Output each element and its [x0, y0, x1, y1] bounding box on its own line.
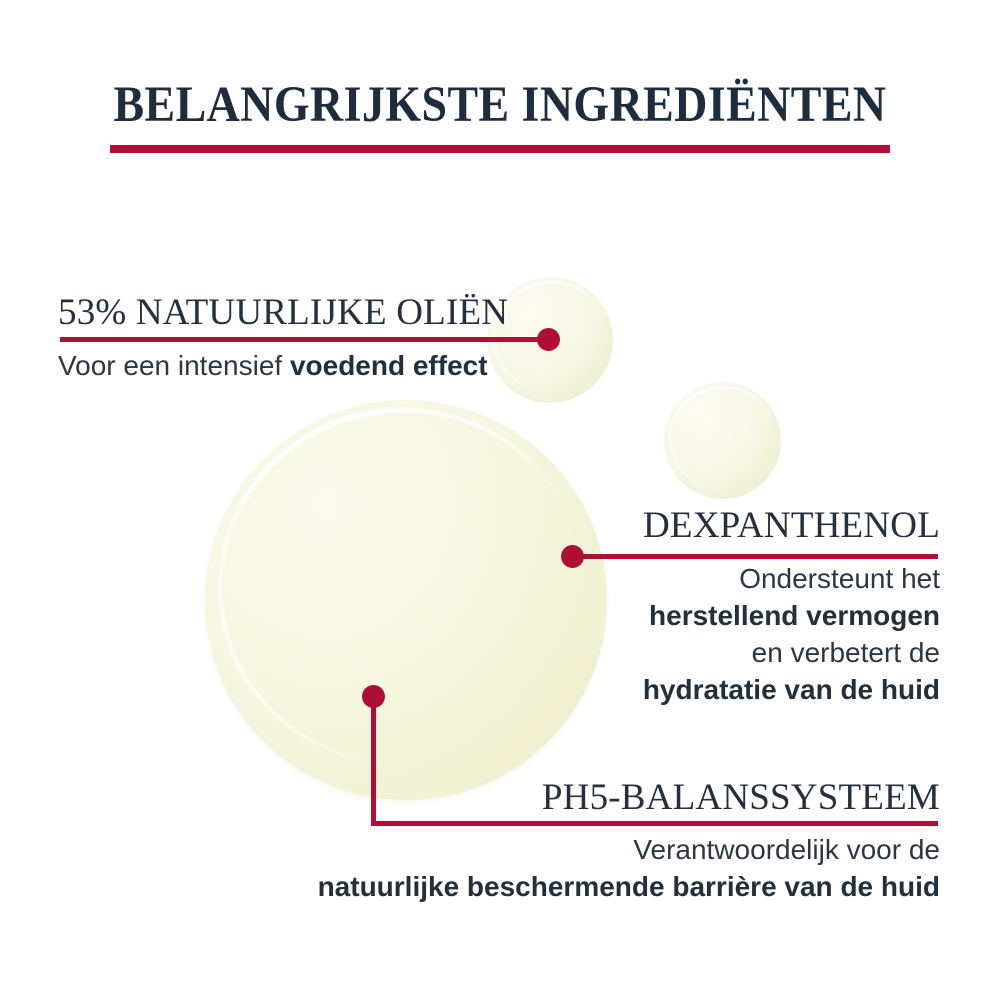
callout-body-line-2: herstellend vermogen — [649, 600, 940, 631]
callout-body-ph5-balanssysteem: Verantwoordelijk voor de natuurlijke bes… — [270, 831, 940, 905]
ingredients-infographic: BELANGRIJKSTE INGREDIËNTEN 53% NATUURLIJ… — [0, 0, 1000, 1000]
page-title: BELANGRIJKSTE INGREDIËNTEN — [50, 76, 950, 134]
callout-body-text-plain: Voor een intensief — [58, 350, 290, 381]
callout-body-line-4: hydratatie van de huid — [643, 674, 940, 705]
leader-dot-ph5-balanssysteem — [362, 685, 385, 708]
callout-dexpanthenol: DEXPANTHENOL Ondersteunt het herstellend… — [520, 505, 940, 708]
callout-heading-natuurlijke-olien: 53% NATUURLIJKE OLIËN — [58, 292, 558, 334]
callout-body-line-1: Verantwoordelijk voor de — [633, 834, 940, 865]
callout-body-natuurlijke-olien: Voor een intensief voedend effect — [58, 347, 558, 384]
callout-heading-ph5-balanssysteem: PH5-BALANSSYSTEEM — [270, 777, 940, 819]
title-underline-rule — [110, 145, 890, 153]
callout-body-line-2: natuurlijke beschermende barrière van de… — [318, 871, 940, 902]
callout-natuurlijke-olien: 53% NATUURLIJKE OLIËN Voor een intensief… — [58, 292, 558, 384]
right-oil-drop-icon — [664, 382, 781, 499]
callout-heading-dexpanthenol: DEXPANTHENOL — [520, 505, 940, 547]
callout-body-dexpanthenol: Ondersteunt het herstellend vermogen en … — [520, 560, 940, 708]
header: BELANGRIJKSTE INGREDIËNTEN — [0, 76, 1000, 134]
callout-body-line-1: Ondersteunt het — [739, 563, 940, 594]
callout-body-text-bold: voedend effect — [290, 350, 488, 381]
callout-body-line-3: en verbetert de — [752, 637, 940, 668]
callout-ph5-balanssysteem: PH5-BALANSSYSTEEM Verantwoordelijk voor … — [270, 777, 940, 905]
